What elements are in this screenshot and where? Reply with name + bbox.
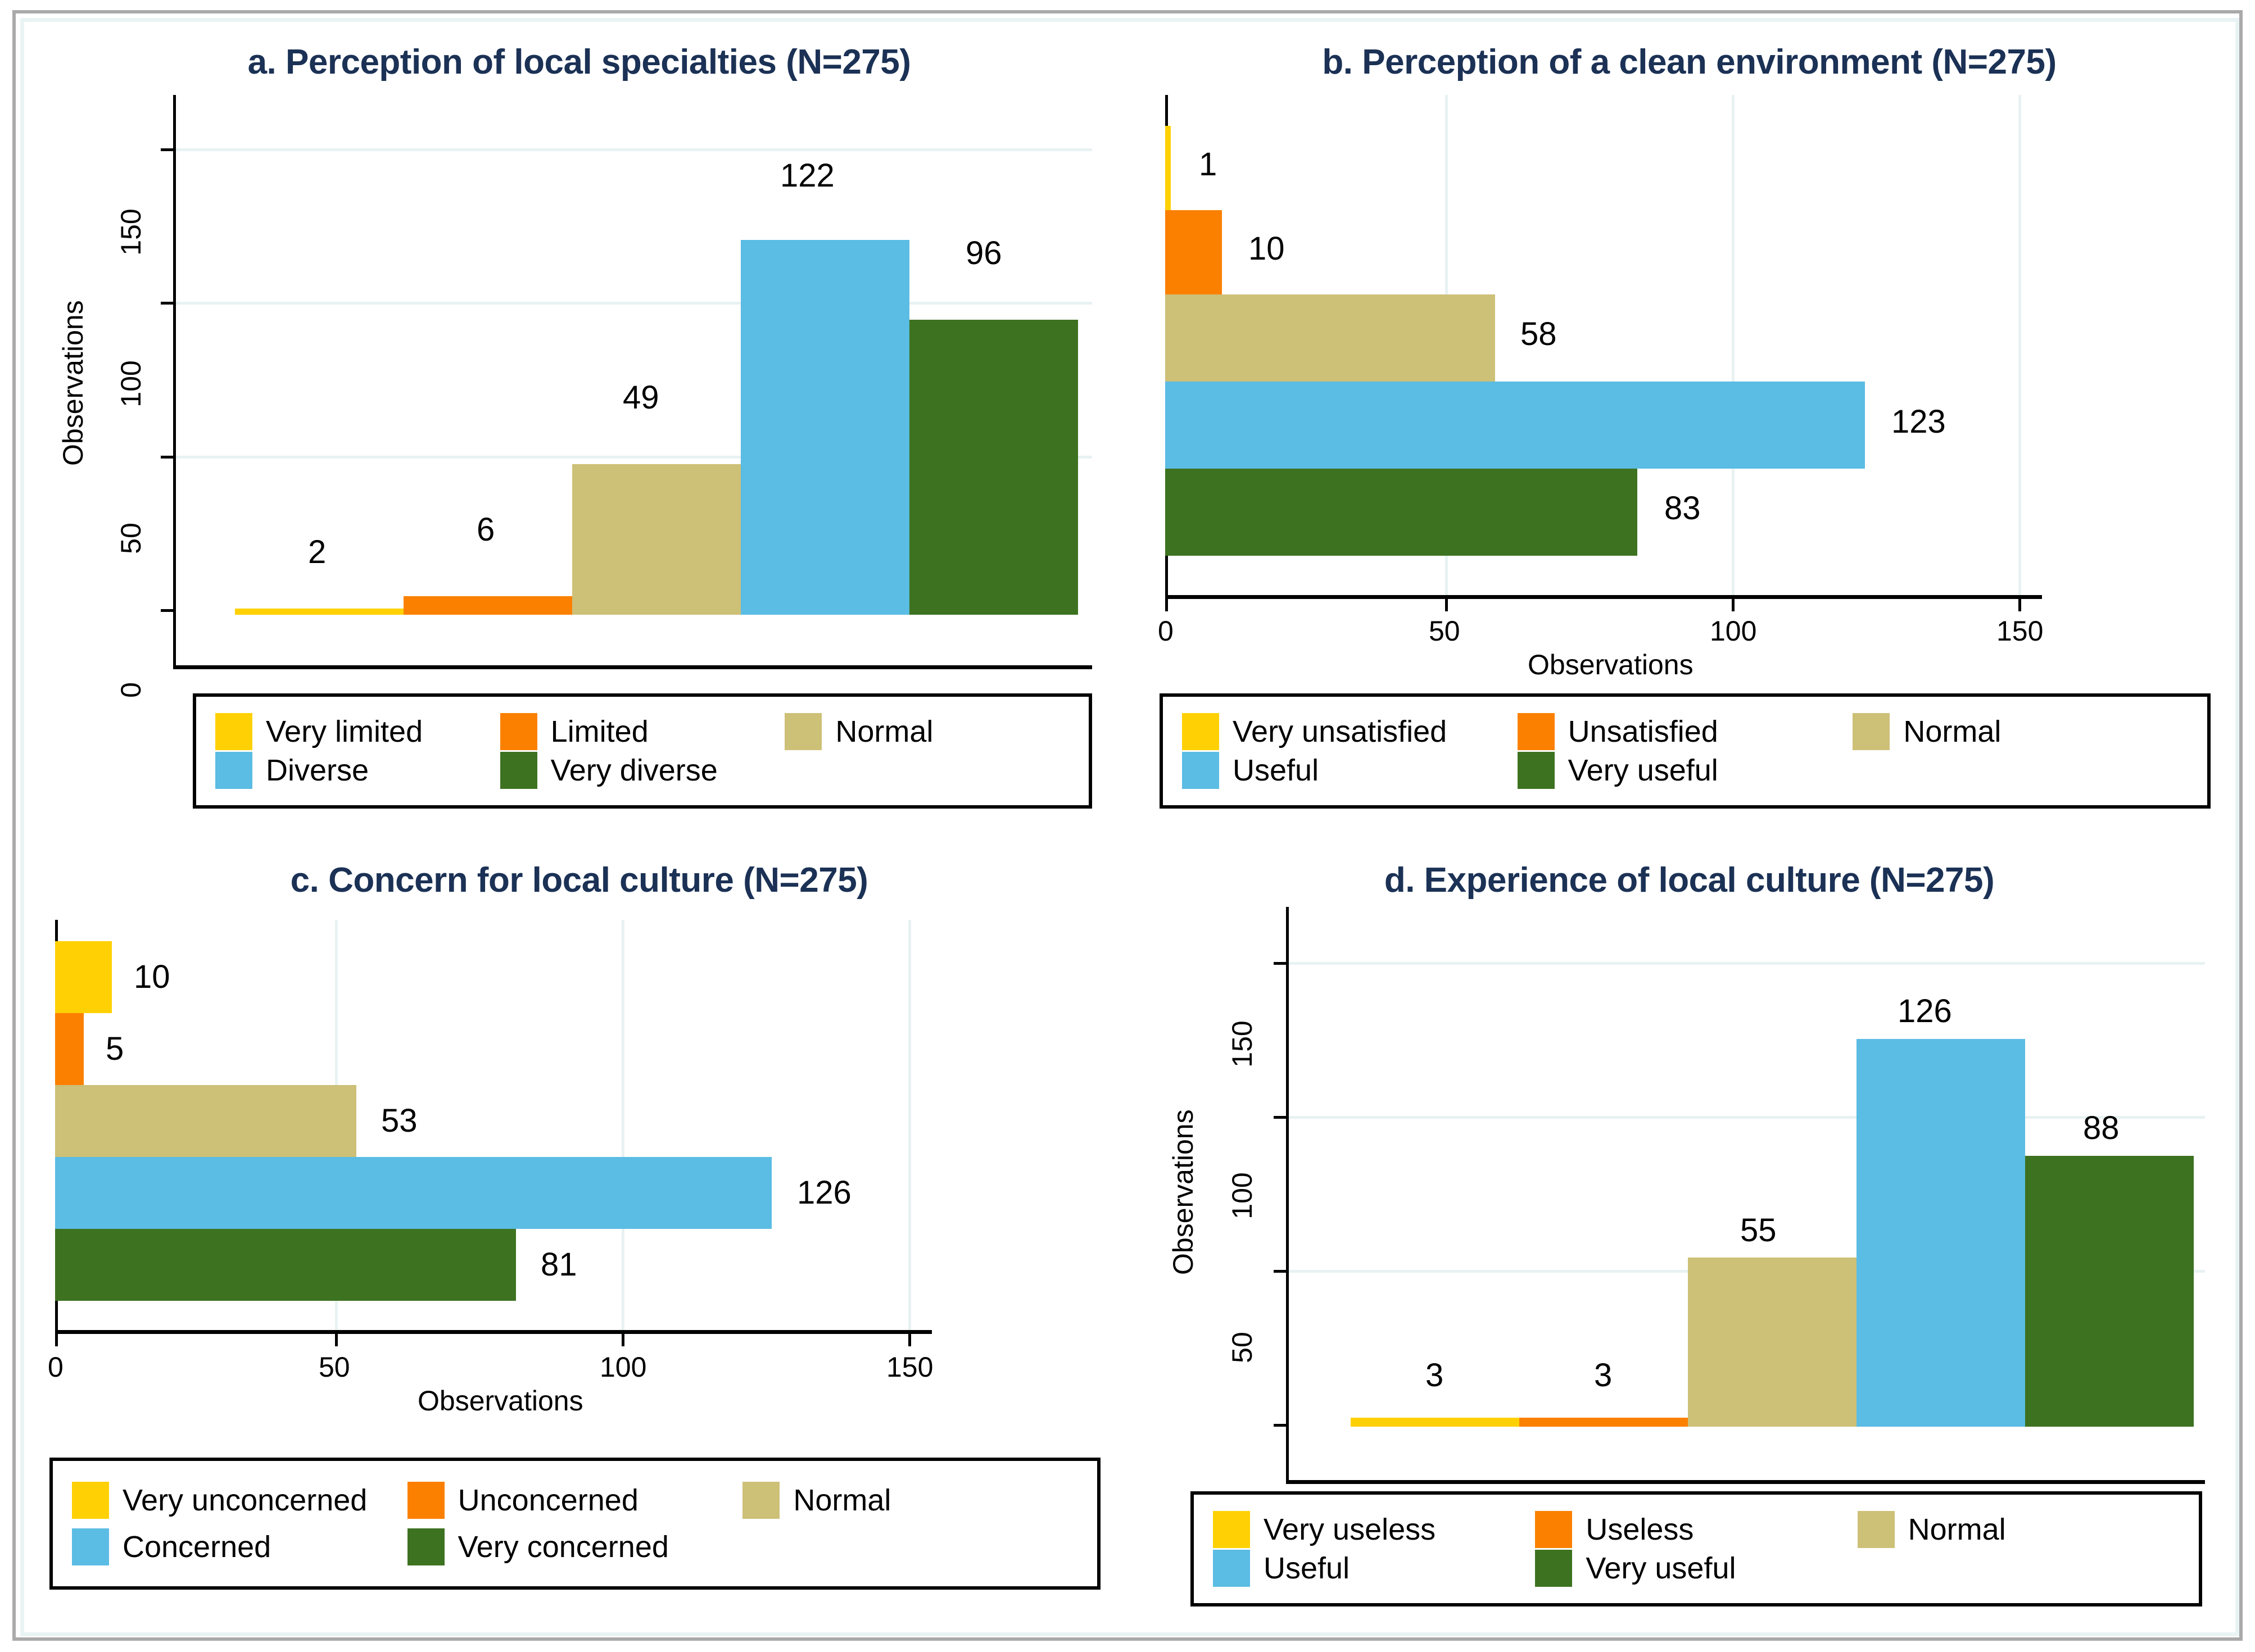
panel-b-x-axis-title: Observations (1528, 648, 1693, 681)
legend-swatch-diverse (215, 752, 252, 789)
legend-item-a-1[interactable]: Limited (500, 713, 785, 750)
bar-very-unsatisfied (1165, 126, 1171, 210)
panel-d-ytick-100: 100 (1226, 1162, 1258, 1229)
panel-b-tick-mark-150 (2018, 599, 2021, 611)
panel-d-ytick-50: 50 (1226, 1314, 1258, 1381)
figure-frame: a. Perception of local specialties (N=27… (12, 10, 2243, 1641)
barlabel-d-3: 126 (1898, 992, 1952, 1030)
legend-swatch-very-concerned (407, 1528, 445, 1565)
barlabel-b-4: 83 (1664, 489, 1701, 527)
bar-very-useful-b (1165, 469, 1637, 556)
panel-b-gridline-100 (1732, 95, 1735, 601)
legend-swatch-concerned (72, 1528, 109, 1565)
legend-item-d-0[interactable]: Very useless (1213, 1511, 1535, 1548)
legend-swatch-very-unsatisfied (1182, 713, 1219, 750)
panel-b-xtick-100: 100 (1710, 615, 1756, 647)
legend-label-b-2: Normal (1903, 714, 2001, 749)
panel-c-x-axis-title: Observations (418, 1385, 583, 1417)
bar-normal (572, 464, 741, 615)
barlabel-b-2: 58 (1520, 315, 1557, 353)
panel-b-xtick-0: 0 (1158, 615, 1174, 647)
panel-d-gridline-100 (1286, 1116, 2205, 1119)
panel-a-tick-mark-150 (161, 148, 173, 151)
legend-item-b-4[interactable]: Very useful (1518, 752, 1853, 789)
legend-label-a-2: Normal (835, 714, 933, 749)
panel-c-legend: Very unconcerned Unconcerned Normal Conc… (49, 1458, 1101, 1590)
barlabel-c-0: 10 (134, 958, 170, 996)
panel-c-gridline-150 (908, 920, 911, 1336)
legend-item-d-3[interactable]: Useful (1213, 1550, 1535, 1587)
legend-item-c-4[interactable]: Very concerned (407, 1528, 743, 1565)
panel-a-y-axis-title: Observations (57, 300, 89, 466)
panel-d-ytick-150: 150 (1226, 1010, 1258, 1078)
panel-b-tick-mark-50 (1445, 599, 1448, 611)
panel-a-y-axis-line (173, 95, 176, 668)
legend-item-b-0[interactable]: Very unsatisfied (1182, 713, 1518, 750)
panel-d-tick-mark-100 (1274, 1116, 1286, 1119)
barlabel-a-3: 122 (780, 157, 835, 194)
legend-label-b-1: Unsatisfied (1568, 714, 1718, 749)
legend-label-d-0: Very useless (1264, 1512, 1436, 1547)
panel-a-title: a. Perception of local specialties (N=27… (24, 42, 1134, 82)
bar-very-useless (1351, 1418, 1519, 1427)
panel-c-plot-area: 10 5 53 126 81 (55, 920, 966, 1336)
legend-swatch-very-diverse (500, 752, 537, 789)
panel-b-xtick-150: 150 (1996, 615, 2043, 647)
legend-label-b-4: Very useful (1568, 753, 1718, 788)
legend-item-d-2[interactable]: Normal (1858, 1511, 2180, 1548)
panel-a-x-axis-line (173, 665, 1092, 669)
panel-a-gridline-100 (173, 302, 1092, 305)
legend-swatch-unconcerned (407, 1482, 445, 1519)
panel-a-tick-mark-50 (161, 456, 173, 459)
barlabel-b-3: 123 (1891, 403, 1946, 441)
barlabel-d-1: 3 (1594, 1356, 1612, 1394)
bar-useful-d (1856, 1039, 2025, 1427)
panel-b-legend: Very unsatisfied Unsatisfied Normal Usef… (1160, 693, 2211, 809)
legend-label-a-4: Very diverse (551, 753, 718, 788)
panel-c-xtick-150: 150 (886, 1351, 933, 1383)
legend-item-a-2[interactable]: Normal (785, 713, 1070, 750)
bar-useful-b (1165, 382, 1865, 469)
bar-normal-c (55, 1085, 356, 1157)
panel-b-plot-area: 1 10 58 123 83 (1165, 95, 2076, 601)
panel-b-x-axis-line (1165, 595, 2042, 599)
panel-a-ytick-50: 50 (115, 505, 147, 572)
legend-swatch-normal (785, 713, 822, 750)
legend-label-b-0: Very unsatisfied (1233, 714, 1447, 749)
legend-item-c-0[interactable]: Very unconcerned (72, 1482, 407, 1519)
legend-swatch-normal-d (1858, 1511, 1895, 1548)
panel-b-tick-mark-100 (1732, 599, 1735, 611)
bar-limited (404, 596, 572, 615)
barlabel-b-1: 10 (1248, 230, 1285, 267)
barlabel-c-1: 5 (106, 1030, 124, 1068)
legend-label-d-3: Useful (1264, 1551, 1350, 1586)
bar-unsatisfied (1165, 210, 1222, 294)
panel-d-y-axis-title: Observations (1167, 1109, 1199, 1275)
legend-label-c-0: Very unconcerned (123, 1483, 367, 1518)
figure-inner-border: a. Perception of local specialties (N=27… (20, 18, 2239, 1636)
barlabel-a-4: 96 (966, 234, 1002, 272)
panel-a-tick-mark-100 (161, 302, 173, 305)
panel-c-tick-mark-100 (622, 1334, 624, 1346)
legend-item-c-2[interactable]: Normal (742, 1482, 1078, 1519)
panel-c-xtick-0: 0 (48, 1351, 64, 1383)
barlabel-d-4: 88 (2083, 1109, 2120, 1147)
barlabel-a-1: 6 (477, 511, 495, 548)
legend-label-c-1: Unconcerned (458, 1483, 639, 1518)
bar-diverse (741, 240, 909, 615)
bar-very-unconcerned (55, 941, 112, 1013)
legend-item-c-1[interactable]: Unconcerned (407, 1482, 743, 1519)
bar-unconcerned (55, 1013, 84, 1085)
legend-label-c-2: Normal (793, 1483, 891, 1518)
panel-a: a. Perception of local specialties (N=27… (24, 22, 1134, 809)
barlabel-d-0: 3 (1425, 1356, 1443, 1394)
bar-very-useful-d (2025, 1156, 2194, 1427)
legend-label-a-3: Diverse (266, 753, 369, 788)
legend-swatch-useful-d (1213, 1550, 1250, 1587)
bar-concerned (55, 1157, 772, 1229)
panel-c-xtick-50: 50 (319, 1351, 350, 1383)
bar-very-limited (235, 609, 404, 615)
legend-label-a-1: Limited (551, 714, 649, 749)
bar-very-concerned (55, 1229, 516, 1301)
legend-label-c-4: Very concerned (458, 1530, 669, 1564)
panel-d-plot-area: 3 3 55 126 88 (1286, 907, 2205, 1486)
legend-label-c-3: Concerned (123, 1530, 271, 1564)
legend-label-d-2: Normal (1908, 1512, 2006, 1547)
legend-swatch-unsatisfied (1518, 713, 1555, 750)
panel-d-legend: Very useless Useless Normal Useful Very … (1190, 1491, 2202, 1606)
panel-c-tick-mark-150 (908, 1334, 911, 1346)
barlabel-b-0: 1 (1199, 146, 1217, 183)
barlabel-c-3: 126 (797, 1174, 852, 1211)
panel-c-xtick-100: 100 (600, 1351, 646, 1383)
legend-item-a-3[interactable]: Diverse (215, 752, 500, 789)
legend-item-c-3[interactable]: Concerned (72, 1528, 407, 1565)
legend-item-a-4[interactable]: Very diverse (500, 752, 785, 789)
legend-swatch-normal-b (1853, 713, 1890, 750)
panel-b-title: b. Perception of a clean environment (N=… (1134, 42, 2244, 82)
bar-normal-d (1688, 1258, 1856, 1427)
barlabel-d-2: 55 (1740, 1211, 1777, 1249)
barlabel-c-4: 81 (541, 1246, 577, 1283)
legend-swatch-very-unconcerned (72, 1482, 109, 1519)
legend-label-a-0: Very limited (266, 714, 423, 749)
panel-b-gridline-150 (2018, 95, 2021, 601)
panel-a-tick-mark-0 (161, 609, 173, 612)
legend-swatch-very-useful-b (1518, 752, 1555, 789)
legend-item-b-2[interactable]: Normal (1853, 713, 2188, 750)
panel-d-tick-mark-150 (1274, 962, 1286, 965)
legend-item-a-0[interactable]: Very limited (215, 713, 500, 750)
panel-d-gridline-150 (1286, 962, 2205, 965)
barlabel-c-2: 53 (381, 1102, 418, 1140)
legend-label-d-1: Useless (1586, 1512, 1693, 1547)
panel-d-title: d. Experience of local culture (N=275) (1134, 860, 2244, 900)
bar-very-diverse (909, 320, 1078, 615)
legend-swatch-very-useful-d (1535, 1550, 1572, 1587)
panel-d-x-axis-line (1286, 1480, 2205, 1484)
bar-useless (1519, 1418, 1688, 1427)
legend-swatch-very-useless (1213, 1511, 1250, 1548)
legend-label-d-4: Very useful (1586, 1551, 1736, 1586)
panel-a-plot-area: 2 6 49 122 96 (173, 95, 1092, 671)
legend-item-d-1[interactable]: Useless (1535, 1511, 1857, 1548)
panel-c-gridline-100 (622, 920, 624, 1336)
panel-c-title: c. Concern for local culture (N=275) (24, 860, 1134, 900)
legend-swatch-very-limited (215, 713, 252, 750)
panel-d: d. Experience of local culture (N=275) O… (1134, 809, 2244, 1640)
panel-a-legend: Very limited Limited Normal Diverse Very… (193, 693, 1092, 809)
legend-swatch-useful-b (1182, 752, 1219, 789)
panel-a-ytick-150: 150 (115, 198, 147, 266)
panel-b: b. Perception of a clean environment (N=… (1134, 22, 2244, 809)
panel-c-tick-mark-0 (55, 1334, 58, 1346)
legend-item-d-4[interactable]: Very useful (1535, 1550, 1857, 1587)
panel-c-tick-mark-50 (335, 1334, 338, 1346)
panel-a-ytick-100: 100 (115, 350, 147, 417)
panel-d-tick-mark-0 (1274, 1424, 1286, 1427)
panel-a-gridline-150 (173, 148, 1092, 151)
panel-b-tick-mark-0 (1165, 599, 1168, 611)
legend-item-b-1[interactable]: Unsatisfied (1518, 713, 1853, 750)
bar-normal-b (1165, 294, 1495, 382)
panel-c: c. Concern for local culture (N=275) 10 … (24, 809, 1134, 1640)
legend-label-b-3: Useful (1233, 753, 1319, 788)
legend-swatch-limited (500, 713, 537, 750)
panel-a-ytick-0: 0 (115, 656, 147, 724)
barlabel-a-2: 49 (623, 379, 659, 416)
barlabel-a-0: 2 (308, 533, 326, 571)
panel-d-y-axis-line (1286, 907, 1289, 1483)
legend-swatch-useless (1535, 1511, 1572, 1548)
panel-c-x-axis-line (55, 1330, 932, 1334)
legend-swatch-normal-c (742, 1482, 780, 1519)
panel-d-tick-mark-50 (1274, 1270, 1286, 1273)
legend-item-b-3[interactable]: Useful (1182, 752, 1518, 789)
panel-b-xtick-50: 50 (1429, 615, 1460, 647)
